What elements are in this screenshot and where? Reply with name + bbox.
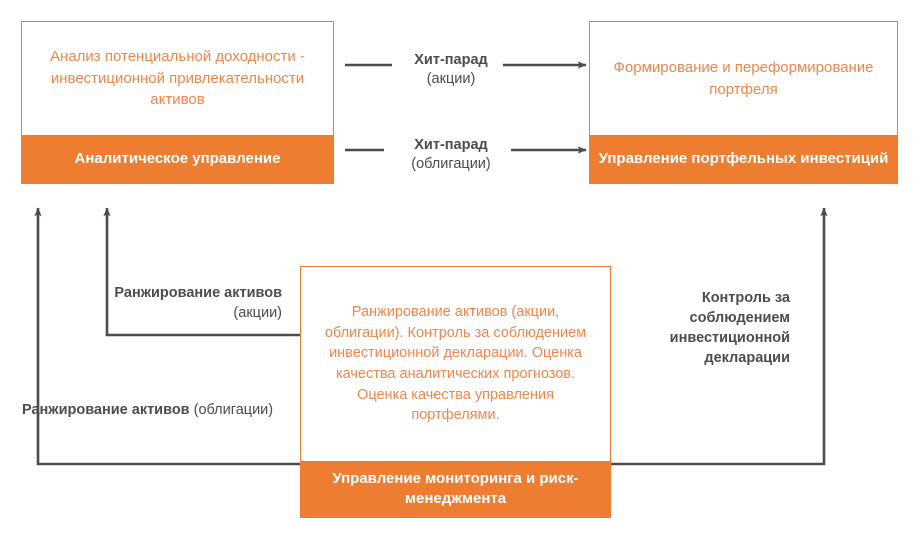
box-portfolio-investments-body: Формирование и переформирование портфеля	[590, 22, 897, 135]
box-monitoring-risk-management-department: Ранжирование активов (акции, облигации).…	[300, 266, 611, 518]
box-analytical-department-footer: Аналитическое управление	[22, 135, 333, 183]
connector-label-ranking-shares-bold: Ранжирование активов	[114, 285, 282, 301]
connector-label-control-declaration: Контроль за соблюдением инвестиционной д…	[650, 288, 790, 368]
box-analytical-department-body: Анализ потенциальной доходности - инвест…	[22, 22, 333, 135]
box-analytical-department: Анализ потенциальной доходности - инвест…	[21, 21, 334, 184]
connector-label-ranking-bonds: Ранжирование активов (облигации)	[22, 400, 276, 420]
box-monitoring-risk-management-footer: Управление мониторинга и риск-менеджмент…	[301, 461, 610, 517]
connector-label-hit-parade-shares-normal: (акции)	[427, 71, 476, 87]
connector-label-hit-parade-shares: Хит-парад (акции)	[396, 51, 506, 89]
connector-label-hit-parade-shares-bold: Хит-парад	[414, 52, 487, 68]
connector-label-ranking-bonds-normal: (облигации)	[194, 402, 273, 418]
arrow-ranking-bonds	[38, 208, 300, 464]
box-monitoring-risk-management-body: Ранжирование активов (акции, облигации).…	[301, 267, 610, 461]
connector-label-ranking-bonds-bold: Ранжирование активов	[22, 402, 190, 418]
connector-label-hit-parade-bonds-normal: (облигации)	[411, 156, 490, 172]
connector-label-ranking-shares: Ранжирование активов (акции)	[114, 283, 282, 323]
connector-label-hit-parade-bonds-bold: Хит-парад	[414, 137, 487, 153]
connector-label-ranking-shares-normal: (акции)	[233, 305, 282, 321]
connector-label-control-declaration-bold: Контроль за соблюдением инвестиционной д…	[670, 290, 790, 366]
diagram-canvas: Анализ потенциальной доходности - инвест…	[0, 0, 919, 534]
box-portfolio-investments-department: Формирование и переформирование портфеля…	[589, 21, 898, 184]
box-portfolio-investments-footer: Управление портфельных инвестиций	[590, 135, 897, 183]
connector-label-hit-parade-bonds: Хит-парад (облигации)	[388, 136, 514, 174]
